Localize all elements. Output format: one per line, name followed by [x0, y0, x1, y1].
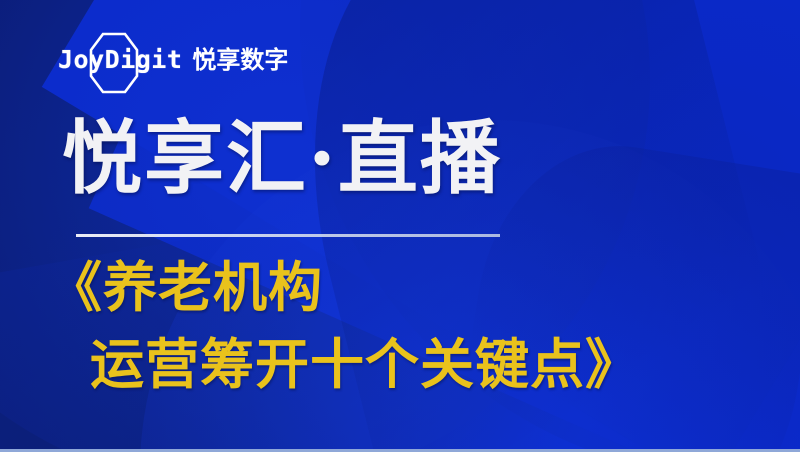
brand-logo: JoyDigit 悦享数字	[58, 31, 298, 95]
livestream-poster: JoyDigit 悦享数字 悦享汇·直播 《养老机构 运营筹开十个关键点》	[0, 0, 800, 452]
topic-title: 《养老机构 运营筹开十个关键点》	[48, 250, 748, 403]
topic-line-2: 运营筹开十个关键点》	[48, 327, 748, 404]
brand-chinese-name: 悦享数字	[192, 48, 288, 72]
brand-wordmark: JoyDigit 悦享数字	[58, 47, 288, 72]
brand-latin-name: JoyDigit	[58, 47, 182, 72]
topic-line-1: 《养老机构	[48, 256, 323, 319]
page-title: 悦享汇·直播	[62, 116, 502, 200]
title-divider	[76, 234, 500, 237]
